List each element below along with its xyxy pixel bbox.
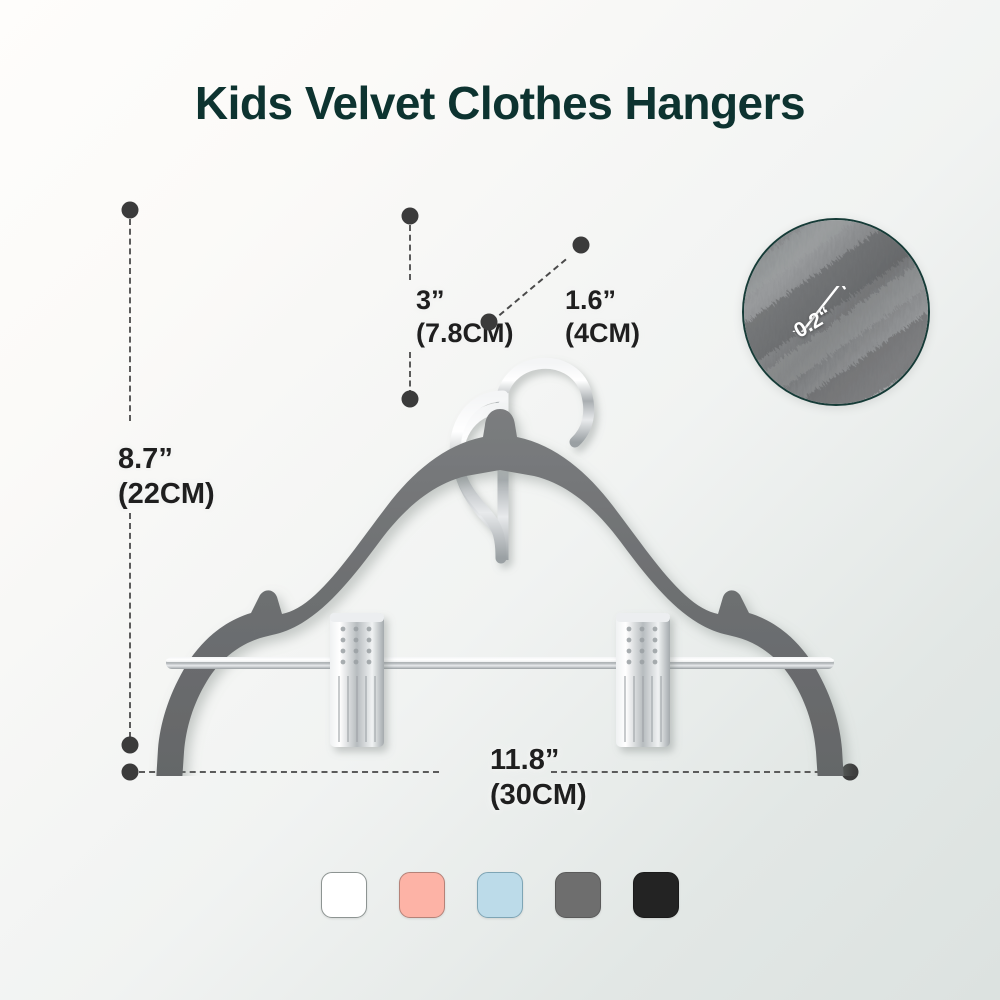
color-swatch-row — [0, 872, 1000, 918]
page-title: Kids Velvet Clothes Hangers — [0, 76, 1000, 130]
color-swatch-blue[interactable] — [477, 872, 523, 918]
hanger-body — [156, 409, 844, 776]
color-swatch-pink[interactable] — [399, 872, 445, 918]
hanger-clip-right — [616, 613, 670, 747]
color-swatch-black[interactable] — [633, 872, 679, 918]
hanger-crossbar — [166, 657, 834, 669]
color-swatch-white[interactable] — [321, 872, 367, 918]
velvet-texture-magnifier: 0.2“ — [742, 218, 930, 406]
infographic-canvas: Kids Velvet Clothes Hangers 8.7” (22CM) … — [0, 0, 1000, 1000]
hanger-clip-left — [330, 613, 384, 747]
color-swatch-gray[interactable] — [555, 872, 601, 918]
